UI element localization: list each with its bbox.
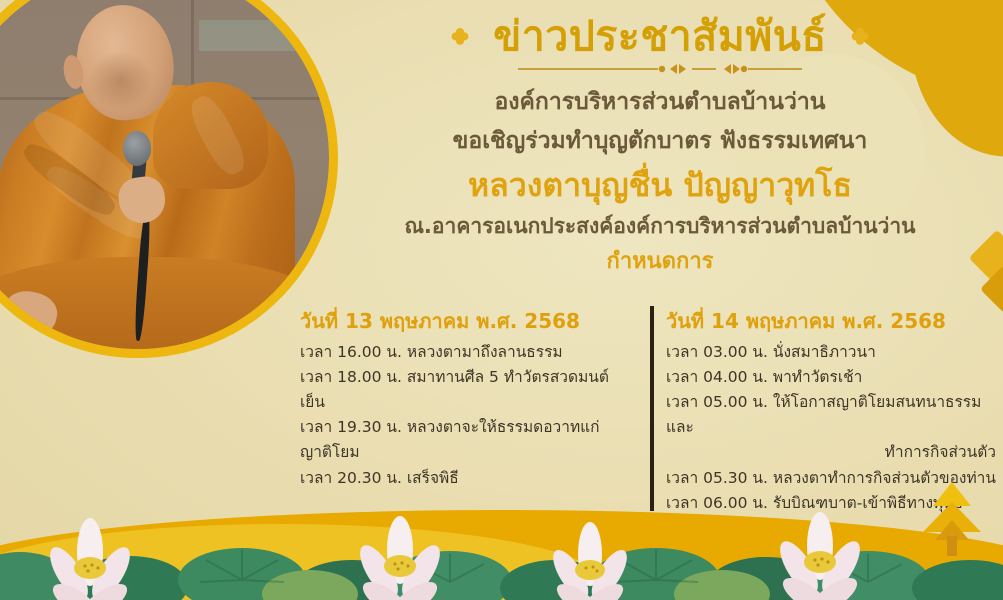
- page-title: ข่าวประชาสัมพันธ์: [493, 14, 827, 60]
- organization-name: องค์การบริหารส่วนตำบลบ้านว่าน: [330, 86, 990, 119]
- schedule-item: เวลา 05.00 น. ให้โอกาสญาติโยมสนทนาธรรมแล…: [666, 390, 1000, 440]
- lotus-decoration-group: [0, 486, 1003, 600]
- bottom-lotus-band: [0, 480, 1003, 600]
- monk-name: หลวงตาบุญชื่น ปัญญาวุทโธ: [330, 162, 990, 208]
- decorative-divider-icon: [510, 62, 810, 76]
- quatrefoil-ornament-icon: [445, 22, 475, 52]
- schedule-item: เวลา 16.00 น. หลวงตามาถึงลานธรรม: [300, 340, 632, 365]
- monk-portrait: [0, 0, 338, 358]
- poster-root: ข่าวประชาสัมพันธ์ องค์การบริหารส่วนตำบลบ…: [0, 0, 1003, 600]
- day-heading: วันที่ 14 พฤษภาคม พ.ศ. 2568: [666, 306, 1000, 336]
- schedule-item: ทำการกิจส่วนตัว: [666, 440, 1000, 465]
- invitation-line: ขอเชิญร่วมทำบุญตักบาตร ฟังธรรมเทศนา: [330, 123, 990, 160]
- schedule-item: เวลา 04.00 น. พาทำวัตรเช้า: [666, 365, 1000, 390]
- title-row: ข่าวประชาสัมพันธ์: [330, 14, 990, 60]
- schedule-item: เวลา 03.00 น. นั่งสมาธิภาวนา: [666, 340, 1000, 365]
- schedule-item: เวลา 18.00 น. สมาทานศีล 5 ทำวัตรสวดมนต์เ…: [300, 365, 632, 415]
- header-block: ข่าวประชาสัมพันธ์ องค์การบริหารส่วนตำบลบ…: [330, 14, 990, 278]
- schedule-item: เวลา 19.30 น. หลวงตาจะให้ธรรมดอวาทแก่ญาต…: [300, 415, 632, 465]
- quatrefoil-ornament-icon: [845, 22, 875, 52]
- venue-line: ณ.อาคารอเนกประสงค์องค์การบริหารส่วนตำบลบ…: [330, 211, 990, 243]
- schedule-label: กำหนดการ: [330, 245, 990, 278]
- day-heading: วันที่ 13 พฤษภาคม พ.ศ. 2568: [300, 306, 632, 336]
- schedule-items-day1: เวลา 16.00 น. หลวงตามาถึงลานธรรมเวลา 18.…: [300, 340, 632, 491]
